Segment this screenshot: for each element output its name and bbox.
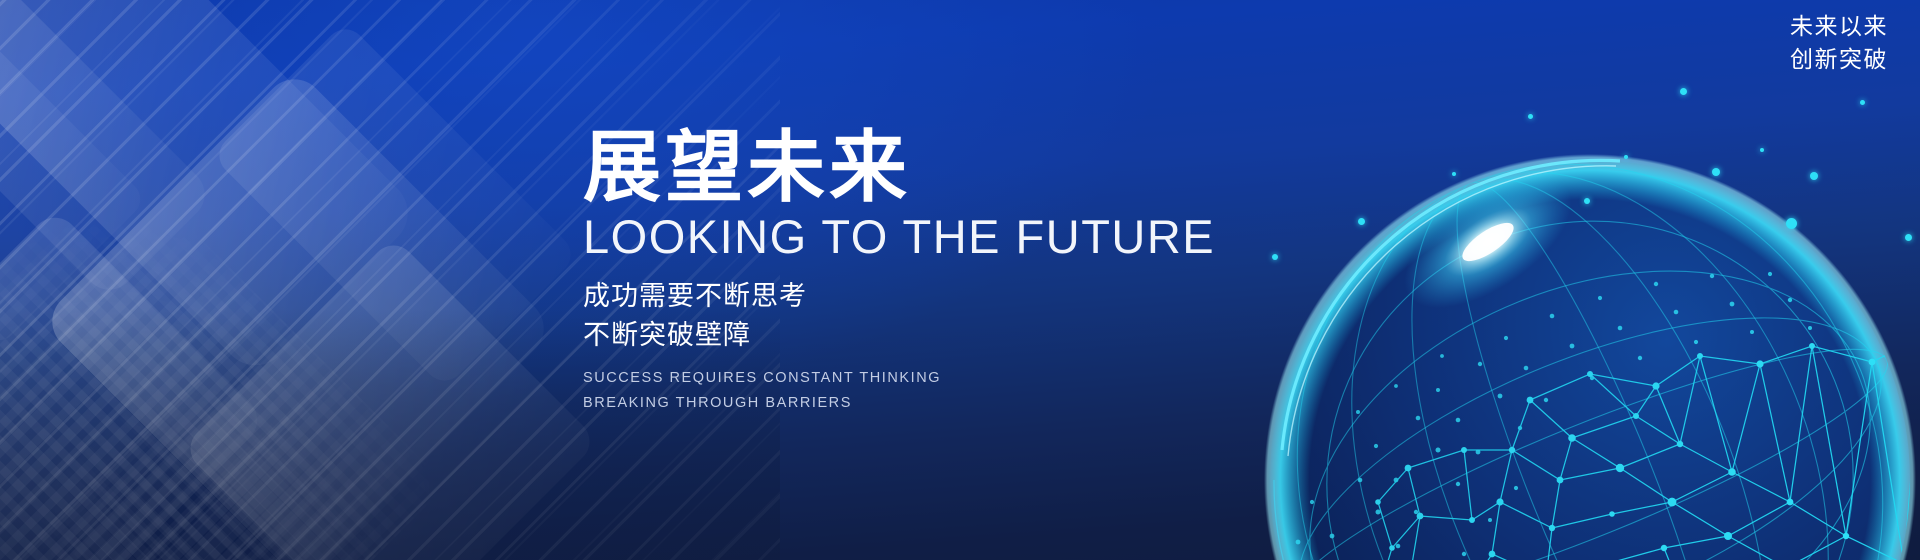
- floating-dot: [1624, 155, 1628, 159]
- floating-dot: [1905, 234, 1912, 241]
- floating-dot: [1760, 148, 1764, 152]
- floating-dot: [1860, 100, 1865, 105]
- subtitle-chinese-line-2: 不断突破壁障: [583, 316, 1203, 354]
- slogan-line-1: 未来以来: [1790, 10, 1888, 43]
- slogan-line-2: 创新突破: [1790, 43, 1888, 76]
- subtitle-english-line-1: SUCCESS REQUIRES CONSTANT THINKING: [583, 366, 1203, 391]
- floating-dot: [1680, 88, 1687, 95]
- subtitle-chinese-line-1: 成功需要不断思考: [583, 277, 1203, 315]
- floating-dot: [1452, 172, 1456, 176]
- floating-dot: [1786, 218, 1797, 229]
- floating-dot: [1712, 168, 1720, 176]
- floating-dot: [1584, 198, 1590, 204]
- floating-dot: [1810, 172, 1818, 180]
- headline-english: LOOKING TO THE FUTURE: [583, 212, 1203, 261]
- subtitle-english-line-2: BREAKING THROUGH BARRIERS: [583, 391, 1203, 416]
- floating-dot: [1358, 218, 1365, 225]
- floating-dot: [1528, 114, 1533, 119]
- headline-block: 展望未来 LOOKING TO THE FUTURE 成功需要不断思考 不断突破…: [583, 128, 1203, 416]
- floating-dot: [1272, 254, 1278, 260]
- headline-chinese: 展望未来: [583, 128, 1203, 206]
- corner-slogan: 未来以来 创新突破: [1790, 10, 1888, 75]
- promotional-banner: 未来以来 创新突破 展望未来 LOOKING TO THE FUTURE 成功需…: [0, 0, 1920, 560]
